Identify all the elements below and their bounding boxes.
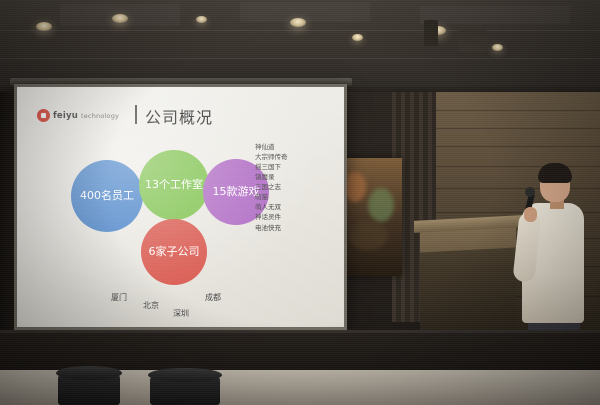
game-title: 大宗师传奇 [255,152,329,162]
logo-suffix: technology [81,112,119,120]
ceiling-spotlight [352,34,363,41]
ceiling-spotlight [36,22,52,31]
photo-scene: feiyu technology 公司概况 400名员工 13个工作室 15款游… [0,0,600,405]
logo-name: feiyu [53,111,78,121]
ceiling-speaker-box [458,30,488,52]
game-title: 神话灵件 [255,212,329,222]
presenter-hand [524,207,537,222]
wall-poster [338,158,402,276]
city-label: 深圳 [173,308,189,319]
city-label: 厦门 [111,292,127,303]
presenter-hair [538,163,572,183]
game-title: 三国之志 [255,182,329,192]
game-title: 神仙道 [255,142,329,152]
feiyu-logo: feiyu technology [37,109,119,122]
ceiling-spotlight [492,44,503,51]
trash-bin-lid [56,366,122,380]
trash-bin-lid [148,368,222,382]
ceiling-spotlight [196,16,207,23]
title-divider [135,105,137,124]
bubble-employees: 400名员工 [71,160,143,232]
ceiling-spotlight [290,18,306,27]
game-title: 萌人无双 [255,202,329,212]
bubble-studios: 13个工作室 [139,150,209,220]
stage-edge [0,330,600,333]
city-label: 成都 [205,292,221,303]
microphone-head-icon [525,187,535,197]
feiyu-logo-icon [37,109,50,122]
game-title-list: 神仙道 大宗师传奇 摇三国下 镇魔录 三国之志 萌猫 萌人无双 神话灵件 电池快… [255,142,329,233]
bubble-subsidiaries: 6家子公司 [141,219,207,285]
game-title: 萌猫 [255,192,329,202]
slide-title: 公司概况 [145,104,213,128]
game-title: 摇三国下 [255,162,329,172]
game-title: 电池快充 [255,223,329,233]
slide: feiyu technology 公司概况 400名员工 13个工作室 15款游… [17,87,344,327]
ceiling-spotlight [112,14,128,23]
ceiling-mount [424,20,438,46]
city-label: 北京 [143,300,159,311]
game-title: 镇魔录 [255,172,329,182]
projection-screen: feiyu technology 公司概况 400名员工 13个工作室 15款游… [17,87,344,327]
